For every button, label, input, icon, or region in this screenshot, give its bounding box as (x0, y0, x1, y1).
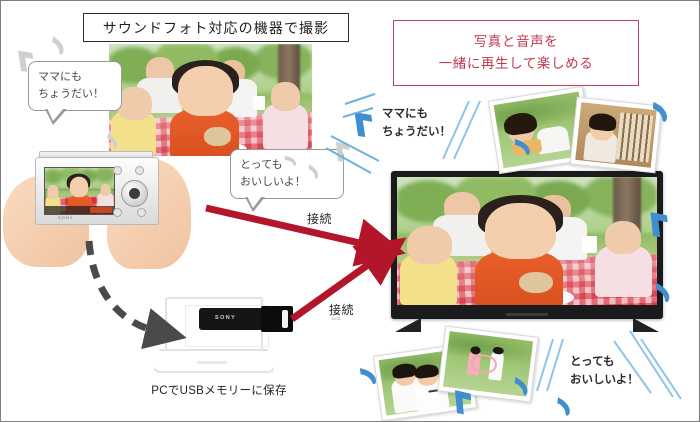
bubble-mama-line-2: ちょうだい！ (38, 86, 112, 103)
camera-button-2 (135, 166, 144, 175)
title-text: サウンドフォト対応の機器で撮影 (103, 18, 330, 38)
pc-save-caption: PCでUSBメモリーに保存 (129, 382, 309, 398)
highlight-line-1: 写真と音声を (474, 31, 559, 53)
bubble-oishii-line-1: とっても (240, 157, 334, 174)
camera-lcd-screen (44, 167, 115, 215)
music-note-gray-2 (49, 37, 66, 60)
tv-speech-mama: ママにも ちょうだい！ (382, 105, 451, 142)
highlight-line-2: 一緒に再生して楽しめる (439, 53, 594, 75)
camera-button-3 (113, 208, 122, 217)
camera-mode-dial (121, 180, 148, 207)
tv-speech-oishii-line-1: とっても (570, 353, 639, 371)
camera-button-4 (137, 208, 146, 217)
connection-label-usb: 接続 (329, 301, 354, 318)
music-note-blue-9 (555, 397, 572, 421)
bubble-oishii-line-2: おいしいよ！ (240, 174, 334, 191)
speech-bubble-mama: ママにも ちょうだい！ (28, 61, 122, 111)
tv-speech-oishii-line-2: おいしいよ！ (570, 371, 639, 389)
camera-in-hands: SONY (3, 149, 193, 269)
tv-speech-mama-line-1: ママにも (382, 105, 451, 123)
photo-card-girls-hoop (437, 326, 538, 403)
tv-screen (397, 177, 657, 305)
main-picnic-photo (109, 44, 312, 156)
tv-stand-left (395, 318, 421, 332)
usb-brand-label: SONY (215, 315, 236, 321)
photo-card-boy-piano (570, 97, 663, 174)
connection-label-camera: 接続 (307, 210, 332, 227)
bubble-mama-line-1: ママにも (38, 69, 112, 86)
music-note-blue-1 (355, 110, 375, 141)
camera-brand-label: SONY (58, 215, 73, 220)
highlight-callout: 写真と音声を 一緒に再生して楽しめる (393, 20, 639, 86)
television (391, 171, 663, 319)
camera-button-1 (113, 166, 122, 175)
tv-stand-right (633, 318, 659, 332)
connection-arrow-camera (206, 208, 373, 246)
tv-speech-oishii: とっても おいしいよ！ (570, 353, 639, 390)
camera-body: SONY (35, 157, 159, 225)
sound-photo-diagram: サウンドフォト対応の機器で撮影 写真と音声を 一緒に再生して楽しめる (0, 0, 700, 422)
speech-bubble-oishii: とっても おいしいよ！ (230, 149, 344, 199)
page-title: サウンドフォト対応の機器で撮影 (83, 13, 349, 42)
tv-speech-mama-line-2: ちょうだい！ (382, 123, 451, 141)
usb-memory-stick: SONY USB 32GB (199, 308, 293, 330)
